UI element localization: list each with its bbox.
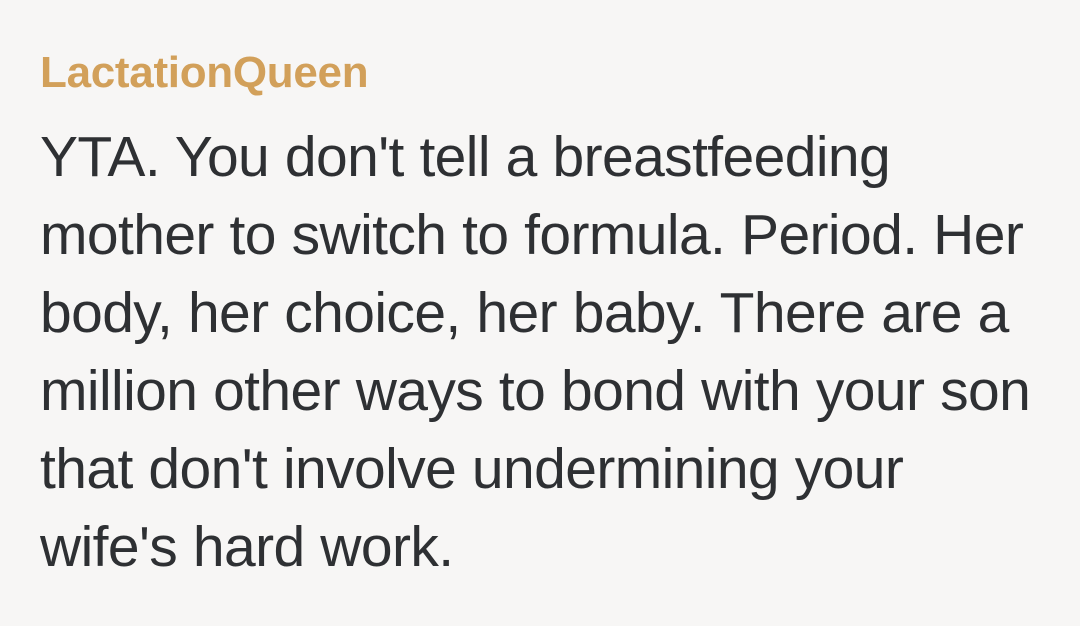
comment-body-line: wife's hard work. [40, 508, 1040, 586]
comment-author-username[interactable]: LactationQueen [40, 50, 1040, 96]
comment-card: LactationQueen YTA. You don't tell a bre… [0, 0, 1080, 626]
comment-body-line: mother to switch to formula. Period. Her [40, 196, 1040, 274]
comment-body-line: million other ways to bond with your son [40, 352, 1040, 430]
comment-body-line: that don't involve undermining your [40, 430, 1040, 508]
comment-body-line: YTA. You don't tell a breastfeeding [40, 118, 1040, 196]
comment-body-text: YTA. You don't tell a breastfeeding moth… [40, 118, 1040, 586]
comment-body-line: body, her choice, her baby. There are a [40, 274, 1040, 352]
